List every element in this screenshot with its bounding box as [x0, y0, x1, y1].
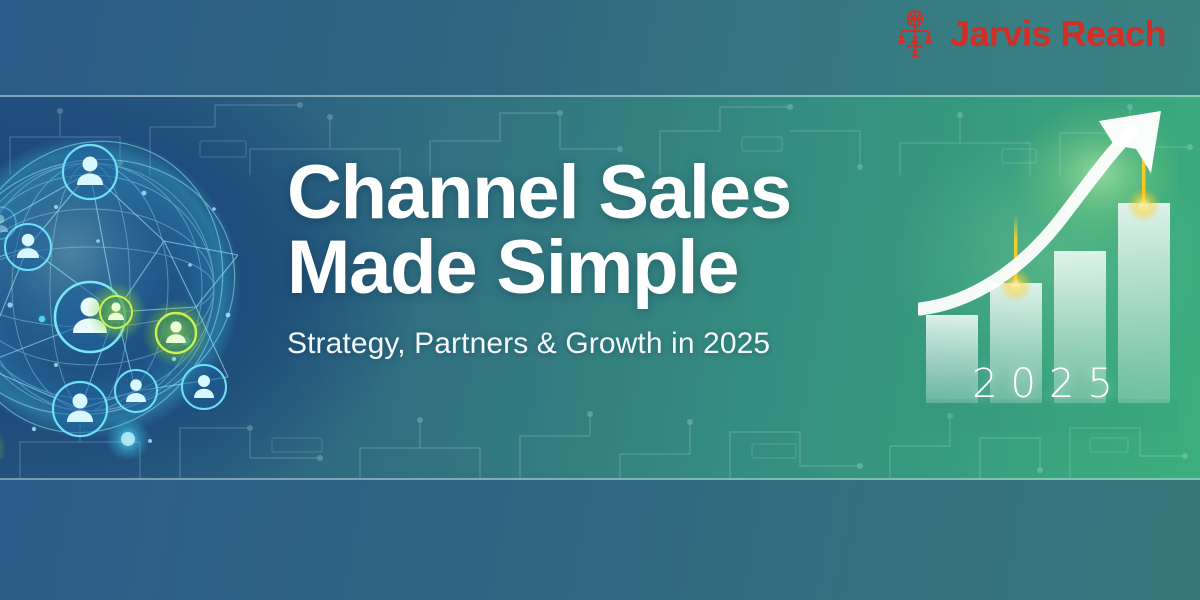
growth-bar-chart-arrow-icon: [918, 103, 1178, 473]
globe-network-people-icon: [0, 119, 268, 459]
headline-line-2: Made Simple: [287, 230, 927, 305]
network-node-person: [115, 370, 157, 412]
network-node-person-highlight: [142, 299, 210, 367]
page-title: Channel Sales Made Simple: [287, 155, 927, 305]
network-node-person: [182, 365, 226, 409]
year-badge: 2025: [924, 361, 1174, 407]
growth-chart-graphic: 2025: [918, 103, 1178, 473]
hero-banner: Channel Sales Made Simple Strategy, Part…: [0, 95, 1200, 480]
page-background: Jarvis Reach: [0, 0, 1200, 600]
network-node-glow: [106, 417, 150, 459]
network-node-person-highlight: [86, 282, 146, 342]
headline-line-1: Channel Sales: [287, 150, 791, 235]
network-node-person: [63, 145, 117, 199]
bottom-background-strip: [0, 480, 1200, 600]
subheadline: Strategy, Partners & Growth in 2025: [287, 327, 927, 361]
globe-network-graphic: [0, 119, 268, 459]
network-node-person: [53, 382, 107, 436]
network-node-glow: [0, 423, 6, 459]
headline-block: Channel Sales Made Simple Strategy, Part…: [287, 155, 927, 361]
brand-lockup[interactable]: Jarvis Reach: [892, 10, 1166, 58]
brand-name: Jarvis Reach: [950, 16, 1166, 52]
network-tree-people-icon: [892, 10, 938, 58]
